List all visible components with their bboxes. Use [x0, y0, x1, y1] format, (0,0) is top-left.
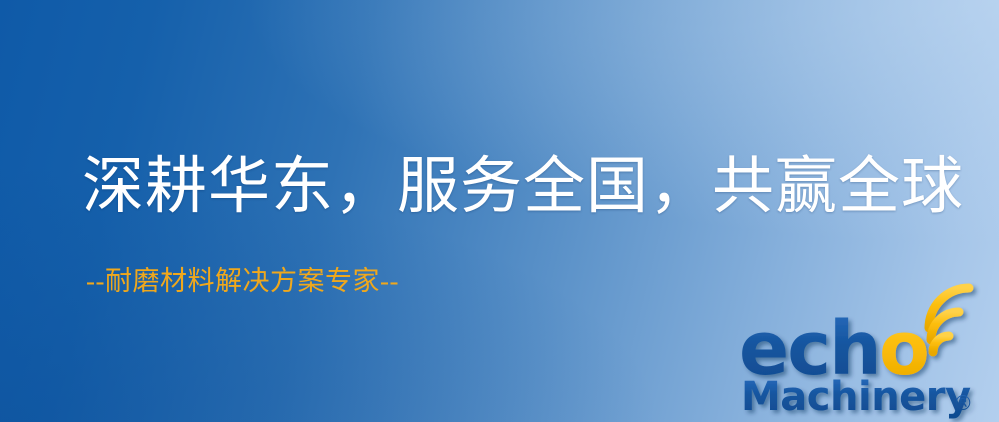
banner-headline: 深耕华东，服务全国，共赢全球	[82, 154, 964, 221]
echo-machinery-logo[interactable]: ech o Machinery ®	[731, 282, 993, 422]
promotional-banner: 深耕华东，服务全国，共赢全球 --耐磨材料解决方案专家--	[0, 0, 999, 422]
signal-arcs-icon	[929, 288, 969, 352]
logo-tagline: Machinery	[741, 374, 971, 420]
logo-registered-mark: ®	[953, 391, 973, 415]
banner-subtitle: --耐磨材料解决方案专家--	[86, 265, 399, 297]
